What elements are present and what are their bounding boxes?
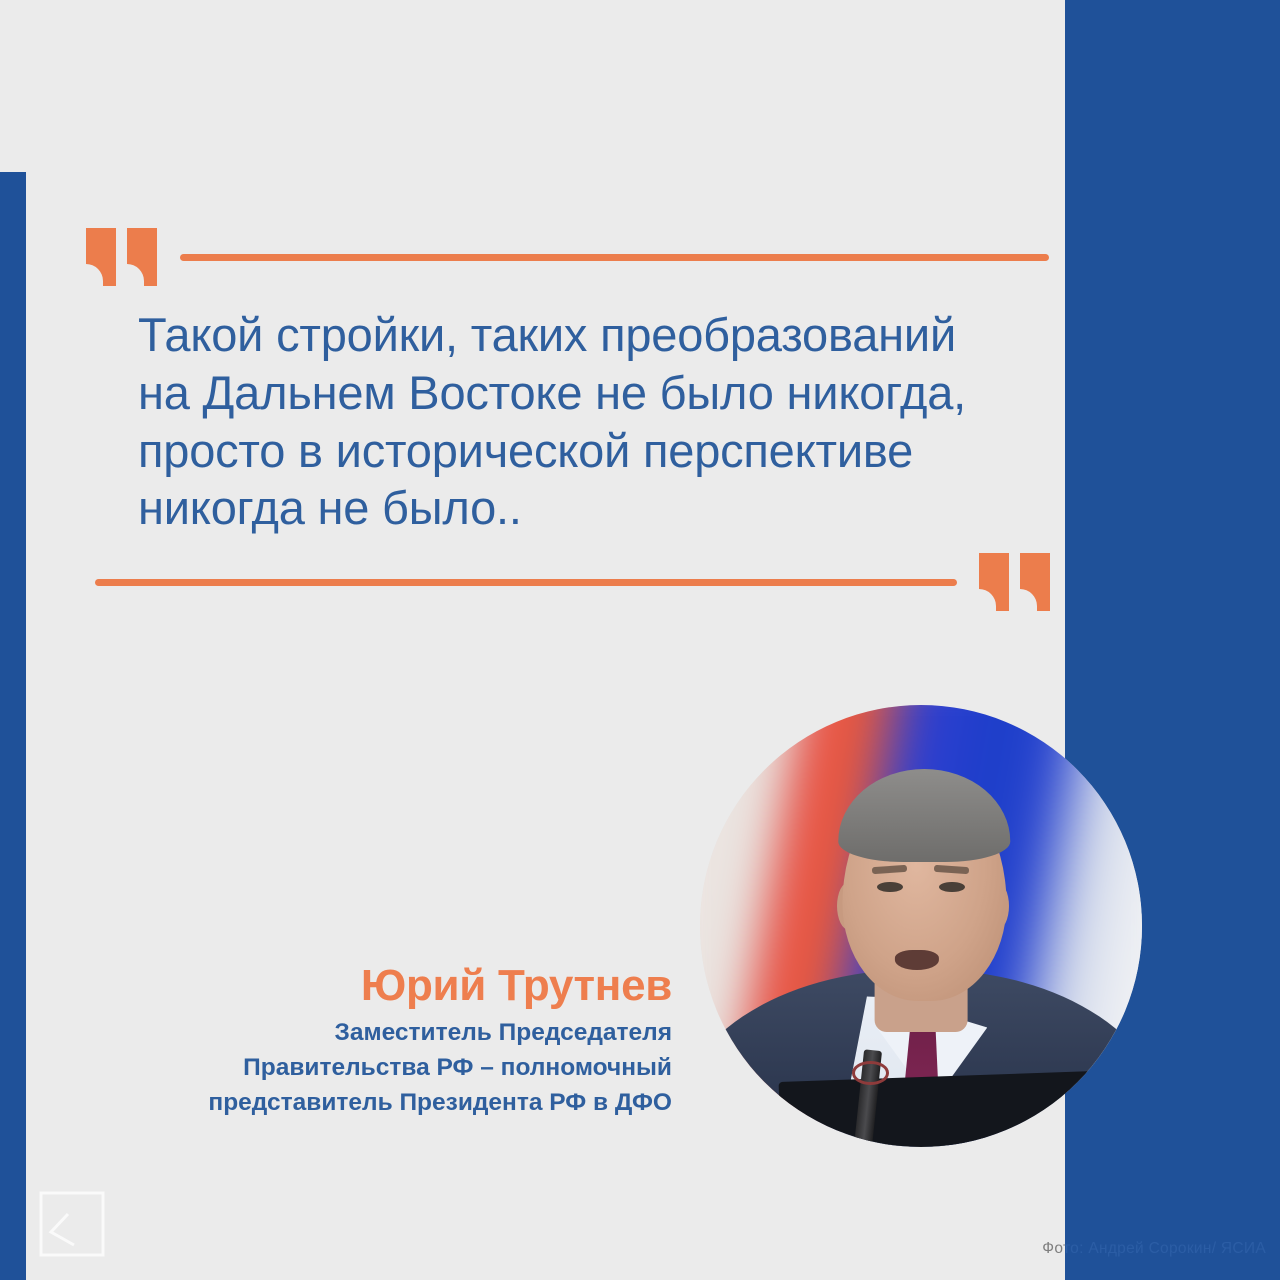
- quote-bottom-rule: [95, 579, 957, 586]
- attribution-block: Юрий Трутнев Заместитель Председателя Пр…: [0, 962, 690, 1121]
- quote-line: просто в исторической перспективе: [138, 422, 1051, 480]
- person-role-line: Заместитель Председателя: [0, 1016, 672, 1051]
- quote-open-icon: [86, 228, 158, 286]
- photo-credit: Фото: Андрей Сорокин/ ЯСИА: [1042, 1240, 1266, 1258]
- quote-line: на Дальнем Востоке не было никогда,: [138, 364, 1051, 422]
- quote-bottom-rule-row: [86, 547, 1051, 617]
- quote-text: Такой стройки, таких преобразований на Д…: [138, 306, 1051, 537]
- person-name: Юрий Трутнев: [0, 962, 672, 1010]
- quote-close-icon: [979, 553, 1051, 611]
- portrait-photo: [700, 705, 1142, 1147]
- person-role-line: представитель Президента РФ в ДФО: [0, 1086, 672, 1121]
- portrait-mouth: [894, 950, 938, 970]
- quote-top-rule: [180, 254, 1049, 261]
- ysia-watermark-logo: [38, 1190, 110, 1262]
- person-role-line: Правительства РФ – полномочный: [0, 1051, 672, 1086]
- quote-line: никогда не было..: [138, 479, 1051, 537]
- quote-card: Такой стройки, таких преобразований на Д…: [0, 0, 1280, 1280]
- portrait-laptop: [778, 1070, 1126, 1147]
- quote-line: Такой стройки, таких преобразований: [138, 306, 1051, 364]
- quote-block: Такой стройки, таких преобразований на Д…: [86, 222, 1051, 617]
- person-role: Заместитель Председателя Правительства Р…: [0, 1016, 672, 1120]
- quote-top-rule-row: [86, 222, 1051, 292]
